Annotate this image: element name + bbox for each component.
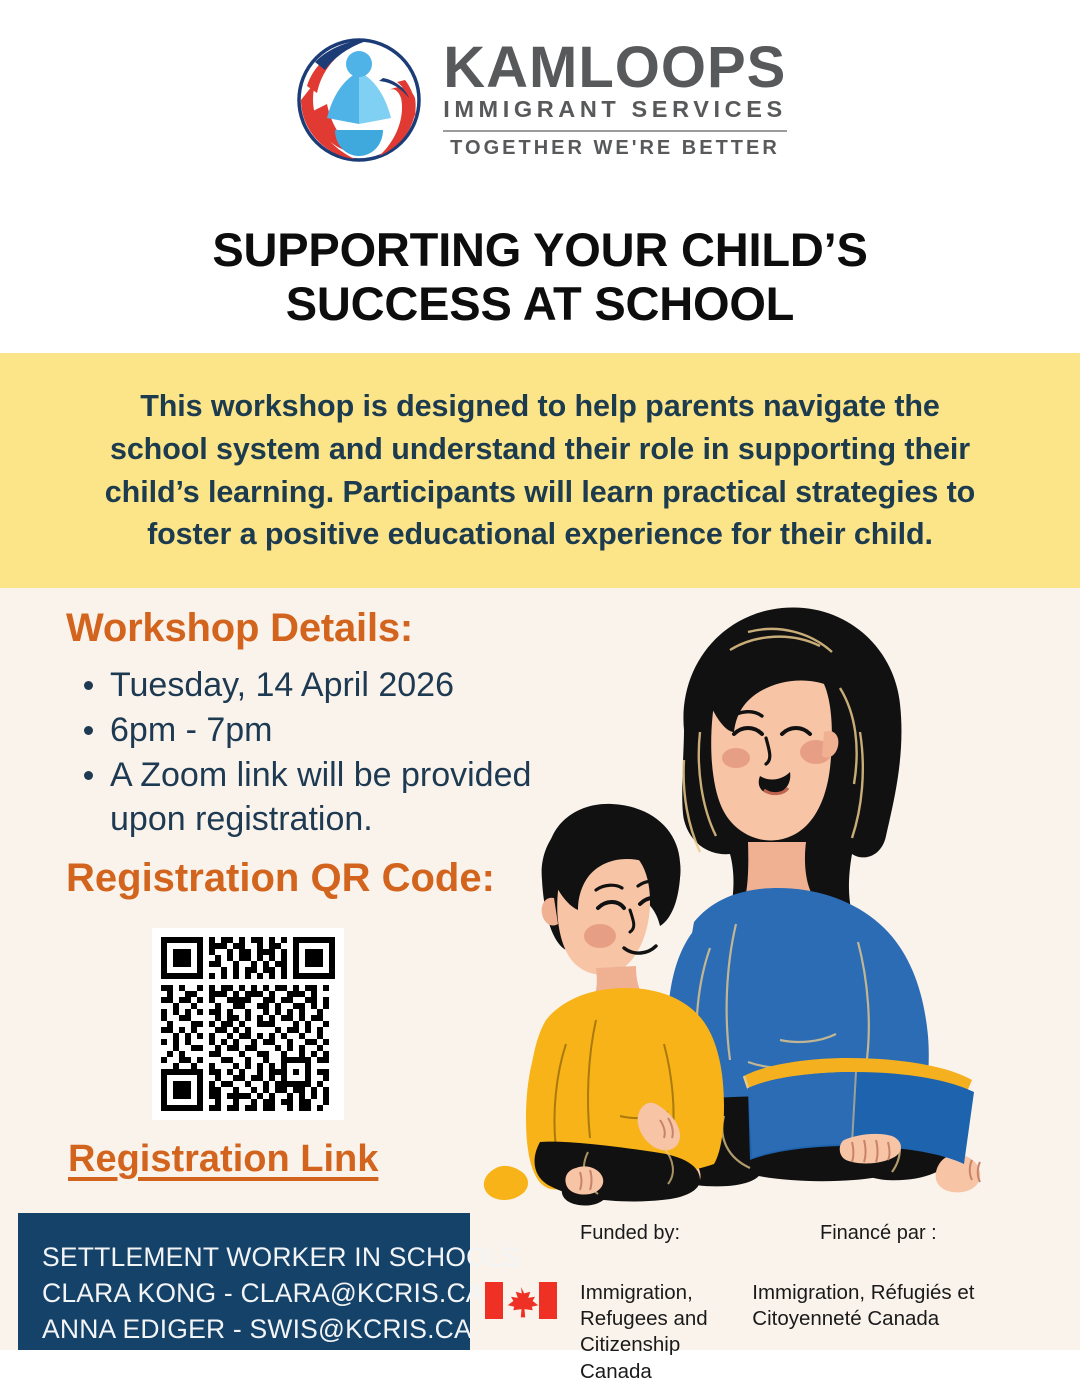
logo-subtitle: IMMIGRANT SERVICES (443, 96, 787, 128)
contact-line: SETTLEMENT WORKER IN SCHOOLS (42, 1239, 470, 1275)
funding-department-en: Immigration, Refugees and Citizenship Ca… (580, 1280, 752, 1385)
workshop-description: This workshop is designed to help parent… (90, 385, 990, 556)
logo-header: KAMLOOPS IMMIGRANT SERVICES TOGETHER WE'… (0, 0, 1080, 200)
title-section: SUPPORTING YOUR CHILD’S SUCCESS AT SCHOO… (0, 200, 1080, 353)
kamloops-globe-logo-icon (293, 34, 425, 166)
contact-info-box: SETTLEMENT WORKER IN SCHOOLS CLARA KONG … (18, 1213, 470, 1350)
mother-and-child-reading-illustration (448, 592, 1080, 1212)
description-band: This workshop is designed to help parent… (0, 353, 1080, 588)
canada-flag-icon (485, 1282, 557, 1319)
funding-attribution: Funded by: Financé par : Immigration, Re… (580, 1222, 1050, 1342)
funding-departments: Immigration, Refugees and Citizenship Ca… (580, 1280, 1050, 1385)
funding-labels: Funded by: Financé par : (580, 1222, 1050, 1245)
qr-code-heading: Registration QR Code: (66, 856, 495, 901)
logo-divider (443, 130, 787, 132)
funded-by-label-fr: Financé par : (820, 1222, 937, 1245)
registration-link[interactable]: Registration Link (68, 1138, 378, 1181)
logo-name: KAMLOOPS (443, 40, 787, 97)
registration-qr-code[interactable] (152, 928, 344, 1120)
funding-department-fr: Immigration, Réfugiés et Citoyenneté Can… (752, 1280, 1050, 1385)
contact-line: ANNA EDIGER - SWIS@KCRIS.CA (42, 1311, 470, 1347)
page-title: SUPPORTING YOUR CHILD’S SUCCESS AT SCHOO… (110, 223, 970, 329)
contact-line: CLARA KONG - CLARA@KCRIS.CA (42, 1275, 470, 1311)
logo-tagline: TOGETHER WE'RE BETTER (443, 137, 787, 160)
funded-by-label-en: Funded by: (580, 1222, 820, 1245)
logo-wordmark: KAMLOOPS IMMIGRANT SERVICES TOGETHER WE'… (443, 40, 787, 161)
